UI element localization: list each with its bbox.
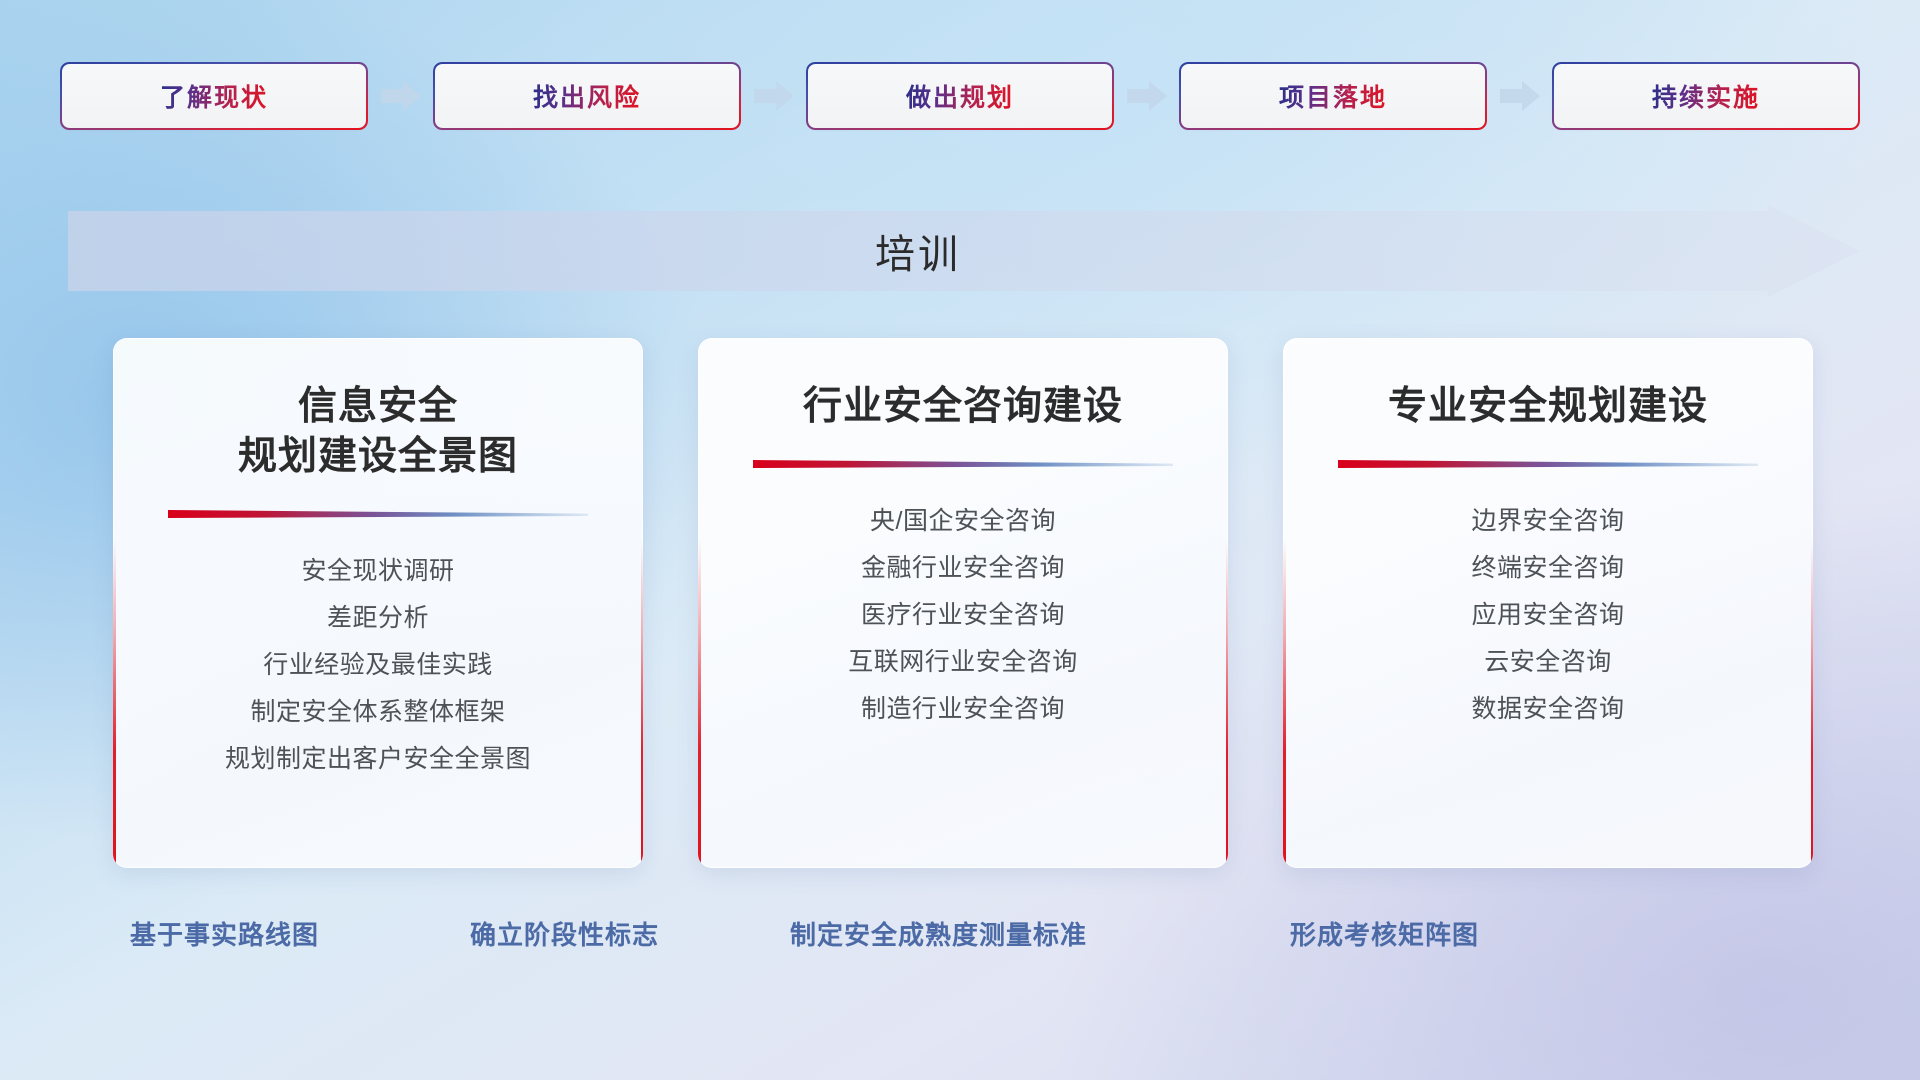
process-step-flow: 了解现状找出风险做出规划项目落地持续实施 <box>62 62 1858 130</box>
list-item[interactable]: 制定安全体系整体框架 <box>131 689 625 736</box>
step-label: 持续实施 <box>1652 78 1760 114</box>
card-item-list: 边界安全咨询终端安全咨询应用安全咨询云安全咨询数据安全咨询 <box>1283 498 1813 733</box>
step-box-2[interactable]: 找出风险 <box>435 64 739 128</box>
list-item[interactable]: 边界安全咨询 <box>1301 498 1795 545</box>
list-item[interactable]: 医疗行业安全咨询 <box>716 592 1210 639</box>
arrow-right-icon <box>754 80 794 112</box>
list-item[interactable]: 互联网行业安全咨询 <box>716 639 1210 686</box>
list-item[interactable]: 安全现状调研 <box>131 548 625 595</box>
card-title: 行业安全咨询建设 <box>698 338 1228 432</box>
step-box-1[interactable]: 了解现状 <box>62 64 366 128</box>
step-label: 项目落地 <box>1279 78 1387 114</box>
step-arrow-3 <box>1112 64 1181 128</box>
list-item[interactable]: 行业经验及最佳实践 <box>131 642 625 689</box>
caption-4: 形成考核矩阵图 <box>1290 915 1479 952</box>
caption-row: 基于事实路线图确立阶段性标志制定安全成熟度测量标准形成考核矩阵图 <box>0 915 1920 961</box>
card-divider <box>753 458 1173 472</box>
card-item-list: 央/国企安全咨询金融行业安全咨询医疗行业安全咨询互联网行业安全咨询制造行业安全咨… <box>698 498 1228 733</box>
slide-canvas: 了解现状找出风险做出规划项目落地持续实施 培训 信息安全 规划建设全景图安全现状… <box>0 0 1920 1080</box>
card-group: 信息安全 规划建设全景图安全现状调研差距分析行业经验及最佳实践制定安全体系整体框… <box>113 338 1813 868</box>
caption-3: 制定安全成熟度测量标准 <box>790 915 1087 952</box>
card-divider <box>1338 458 1758 472</box>
list-item[interactable]: 制造行业安全咨询 <box>716 686 1210 733</box>
card-item-list: 安全现状调研差距分析行业经验及最佳实践制定安全体系整体框架规划制定出客户安全全景… <box>113 548 643 783</box>
card-title: 信息安全 规划建设全景图 <box>113 338 643 482</box>
card-1[interactable]: 信息安全 规划建设全景图安全现状调研差距分析行业经验及最佳实践制定安全体系整体框… <box>113 338 643 868</box>
arrow-right-icon <box>1500 80 1540 112</box>
step-arrow-4 <box>1485 64 1554 128</box>
step-box-5[interactable]: 持续实施 <box>1554 64 1858 128</box>
list-item[interactable]: 数据安全咨询 <box>1301 686 1795 733</box>
step-box-3[interactable]: 做出规划 <box>808 64 1112 128</box>
card-2[interactable]: 行业安全咨询建设央/国企安全咨询金融行业安全咨询医疗行业安全咨询互联网行业安全咨… <box>698 338 1228 868</box>
training-banner: 培训 <box>68 205 1860 297</box>
arrow-right-icon <box>1127 80 1167 112</box>
list-item[interactable]: 云安全咨询 <box>1301 639 1795 686</box>
caption-1: 基于事实路线图 <box>130 915 319 952</box>
list-item[interactable]: 金融行业安全咨询 <box>716 545 1210 592</box>
caption-2: 确立阶段性标志 <box>470 915 659 952</box>
arrow-right-icon <box>381 80 421 112</box>
step-label: 做出规划 <box>906 78 1014 114</box>
step-label: 找出风险 <box>533 78 641 114</box>
list-item[interactable]: 差距分析 <box>131 595 625 642</box>
step-label: 了解现状 <box>160 78 268 114</box>
banner-title: 培训 <box>68 205 1768 297</box>
card-divider <box>168 508 588 522</box>
card-title: 专业安全规划建设 <box>1283 338 1813 432</box>
step-box-4[interactable]: 项目落地 <box>1181 64 1485 128</box>
step-arrow-2 <box>739 64 808 128</box>
list-item[interactable]: 终端安全咨询 <box>1301 545 1795 592</box>
list-item[interactable]: 应用安全咨询 <box>1301 592 1795 639</box>
step-arrow-1 <box>366 64 435 128</box>
list-item[interactable]: 规划制定出客户安全全景图 <box>131 736 625 783</box>
card-3[interactable]: 专业安全规划建设边界安全咨询终端安全咨询应用安全咨询云安全咨询数据安全咨询 <box>1283 338 1813 868</box>
list-item[interactable]: 央/国企安全咨询 <box>716 498 1210 545</box>
